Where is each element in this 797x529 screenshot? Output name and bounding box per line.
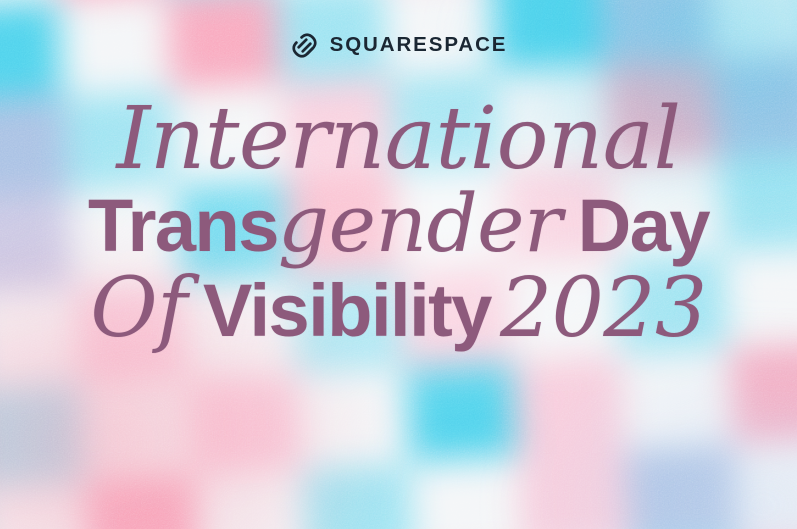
headline-word-year: 2023 xyxy=(500,261,707,356)
headline-word-trans: Trans xyxy=(88,184,278,267)
headline-word-international: International xyxy=(116,89,680,189)
headline-line-1: International xyxy=(24,96,773,182)
headline-block: International TransgenderDay OfVisibilit… xyxy=(0,96,797,350)
squarespace-logo-mark xyxy=(290,31,319,60)
poster-canvas: SQUARESPACE International TransgenderDay… xyxy=(0,0,797,529)
squarespace-logo: SQUARESPACE xyxy=(0,31,797,60)
headline-word-gender: gender xyxy=(278,177,562,270)
headline-word-of: Of xyxy=(90,261,187,356)
headline-line-3: OfVisibility2023 xyxy=(24,268,773,350)
squarespace-wordmark: SQUARESPACE xyxy=(330,35,508,56)
headline-word-visibility: Visibility xyxy=(203,269,491,352)
headline-line-2: TransgenderDay xyxy=(24,184,773,264)
headline-word-day: Day xyxy=(578,184,709,267)
